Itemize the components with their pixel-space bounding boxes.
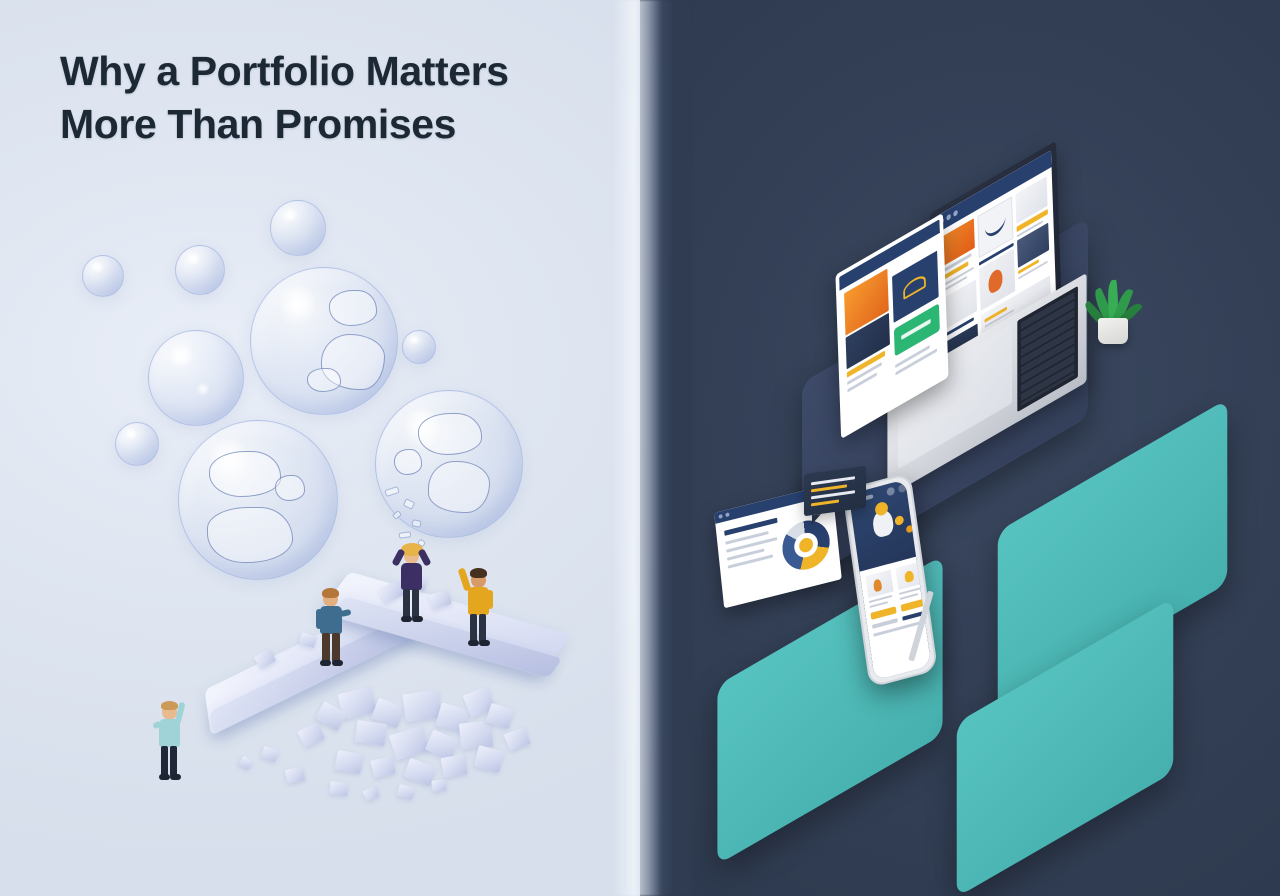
bubble-medium-1 <box>148 330 244 426</box>
figure-standing-teal <box>312 586 354 670</box>
panel-divider <box>612 0 692 896</box>
figure-reaching-yellow <box>458 564 500 650</box>
bubble-small-1 <box>82 255 124 297</box>
bubble-small-4 <box>402 330 436 364</box>
title-line-2: More Than Promises <box>60 98 620 151</box>
bubble-small-5 <box>115 422 159 466</box>
figure-worried-purple <box>392 540 434 626</box>
bubble-globe-2 <box>178 420 338 580</box>
page-title-left: Why a Portfolio Matters More Than Promis… <box>60 45 620 152</box>
comment-bubble-icon <box>804 466 866 517</box>
figure-cheering-blue <box>150 698 190 784</box>
illustration-canvas: Why a Portfolio Matters More Than Promis… <box>0 0 1280 896</box>
bubble-small-3 <box>270 200 326 256</box>
left-panel: Why a Portfolio Matters More Than Promis… <box>0 0 660 896</box>
bubble-globe-1 <box>250 267 398 415</box>
bubble-small-2 <box>175 245 225 295</box>
right-panel: Portfolio <box>640 0 1280 896</box>
title-line-1: Why a Portfolio Matters <box>60 45 620 98</box>
